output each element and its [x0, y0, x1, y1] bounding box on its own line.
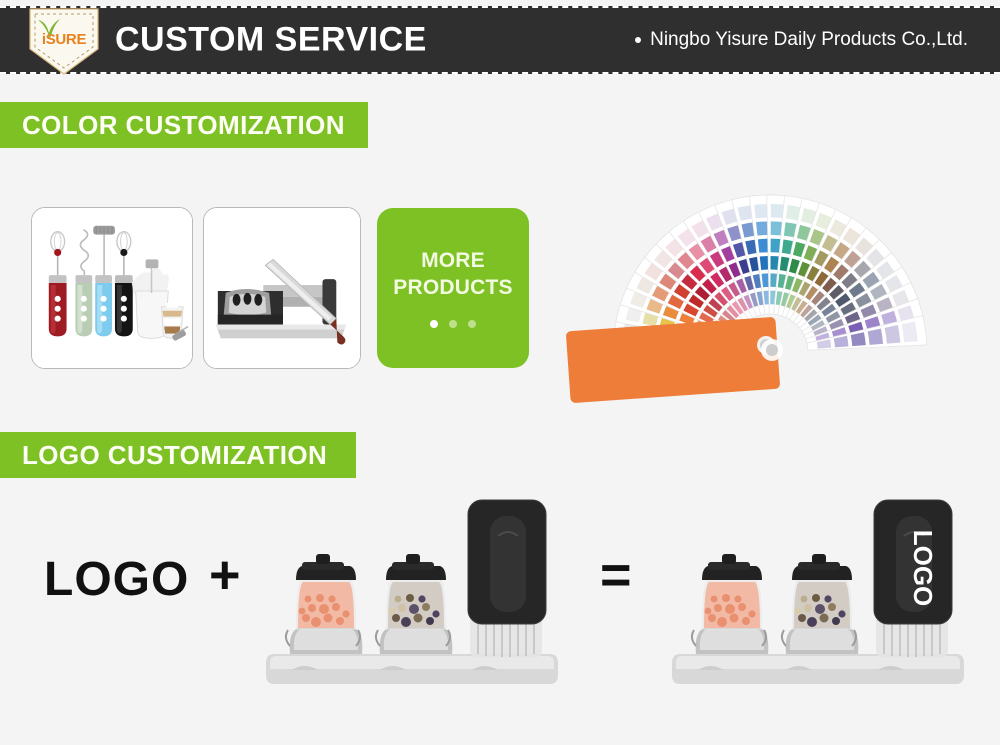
shield-badge-icon: iSURE: [24, 5, 104, 77]
tray: [266, 654, 558, 684]
carousel-dot-3[interactable]: [468, 320, 476, 328]
thumbnail-knife-sharpener[interactable]: [203, 207, 361, 369]
page-header: iSURE CUSTOM SERVICE Ningbo Yisure Daily…: [0, 6, 1000, 74]
brand-logo[interactable]: iSURE: [24, 5, 104, 77]
milk-frother-illustration-icon: [32, 208, 192, 368]
header-right-divider: [992, 14, 994, 66]
carousel-dot-2[interactable]: [449, 320, 457, 328]
company-name-label: Ningbo Yisure Daily Products Co.,Ltd.: [650, 29, 968, 51]
page-root: iSURE CUSTOM SERVICE Ningbo Yisure Daily…: [0, 0, 1000, 745]
color-fan-illustration-icon: [540, 145, 990, 420]
bullet-dot-icon: [635, 37, 641, 43]
more-products-card[interactable]: MORE PRODUCTS: [377, 208, 529, 368]
grinder-set-illustration-icon: [262, 478, 572, 698]
brand-wordmark: iSURE: [24, 31, 104, 48]
logo-equation-term: LOGO: [44, 552, 189, 607]
carousel-dot-1[interactable]: [430, 320, 438, 328]
section-title-logo: LOGO CUSTOMIZATION: [22, 440, 327, 471]
section-bar-logo-customization: LOGO CUSTOMIZATION: [0, 432, 356, 478]
logo-imprint-label: LOGO: [908, 530, 938, 607]
product-grinder-set-branded: LOGO: [668, 478, 978, 698]
grinder-set-branded-illustration-icon: LOGO: [668, 478, 978, 698]
section-title-color: COLOR CUSTOMIZATION: [22, 110, 345, 141]
more-products-line2: PRODUCTS: [393, 276, 512, 299]
sharpener-body: [218, 289, 283, 325]
page-title: CUSTOM SERVICE: [115, 21, 427, 60]
header-inner: iSURE CUSTOM SERVICE Ningbo Yisure Daily…: [0, 8, 1000, 72]
section-bar-color-customization: COLOR CUSTOMIZATION: [0, 102, 368, 148]
more-products-dots: [430, 320, 476, 328]
electric-grinder-branded: LOGO: [874, 500, 952, 658]
more-products-line1: MORE: [421, 249, 485, 272]
more-products-label: MORE PRODUCTS: [393, 248, 512, 302]
plus-sign-icon: +: [209, 548, 241, 602]
orange-front-swatch: [566, 317, 781, 403]
equals-sign-icon: =: [600, 548, 632, 602]
electric-grinder: [468, 500, 546, 658]
product-grinder-set-plain: [262, 478, 572, 698]
tray: [672, 654, 964, 684]
thumbnail-milk-frother-set[interactable]: [31, 207, 193, 369]
company-name: Ningbo Yisure Daily Products Co.,Ltd.: [635, 29, 968, 51]
knife-sharpener-illustration-icon: [204, 208, 360, 368]
color-fan-deck: [540, 145, 990, 420]
